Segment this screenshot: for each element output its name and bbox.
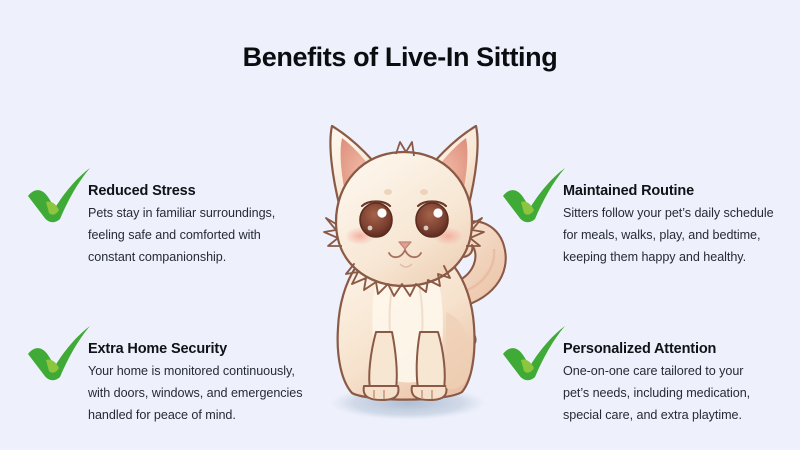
- benefit-item-extra-home-security: Extra Home Security Your home is monitor…: [22, 324, 322, 434]
- benefit-description-line: keeping them happy and healthy.: [563, 246, 799, 268]
- benefit-description-line: with doors, windows, and emergencies: [88, 382, 324, 404]
- benefit-description-line: handled for peace of mind.: [88, 404, 324, 426]
- cat-front-leg-left: [369, 332, 397, 388]
- benefit-description-line: Sitters follow your pet’s daily schedule: [563, 202, 799, 224]
- page-title: Benefits of Live-In Sitting: [0, 40, 800, 74]
- cat-eye-left: [360, 203, 392, 237]
- cat-eye-right: [416, 203, 448, 237]
- benefit-description-line: Pets stay in familiar surroundings,: [88, 202, 324, 224]
- benefit-item-personalized-attention: Personalized Attention One-on-one care t…: [497, 324, 797, 434]
- benefit-item-reduced-stress: Reduced Stress Pets stay in familiar sur…: [22, 166, 322, 276]
- cat-paw-right: [412, 386, 447, 400]
- benefit-description-line: Your home is monitored continuously,: [88, 360, 324, 382]
- benefit-heading: Personalized Attention: [563, 340, 799, 358]
- benefit-description: One-on-one care tailored to your pet’s n…: [563, 360, 799, 426]
- benefit-text: Personalized Attention One-on-one care t…: [563, 340, 799, 426]
- benefit-text: Reduced Stress Pets stay in familiar sur…: [88, 182, 324, 268]
- benefit-description-line: One-on-one care tailored to your: [563, 360, 799, 382]
- benefit-heading: Extra Home Security: [88, 340, 324, 358]
- benefit-heading: Maintained Routine: [563, 182, 799, 200]
- benefit-description-line: special care, and extra playtime.: [563, 404, 799, 426]
- benefit-description: Sitters follow your pet’s daily schedule…: [563, 202, 799, 268]
- benefit-description-line: for meals, walks, play, and bedtime,: [563, 224, 799, 246]
- cat-paw-left: [364, 386, 399, 400]
- green-check-icon: [22, 324, 94, 382]
- green-check-icon: [22, 166, 94, 224]
- benefit-description-line: pet’s needs, including medication,: [563, 382, 799, 404]
- benefit-item-maintained-routine: Maintained Routine Sitters follow your p…: [497, 166, 797, 276]
- infographic-canvas: Benefits of Live-In Sitting: [0, 0, 800, 450]
- benefit-description-line: constant companionship.: [88, 246, 324, 268]
- benefit-description: Pets stay in familiar surroundings, feel…: [88, 202, 324, 268]
- cat-illustration: [296, 96, 514, 436]
- benefit-text: Extra Home Security Your home is monitor…: [88, 340, 324, 426]
- benefit-text: Maintained Routine Sitters follow your p…: [563, 182, 799, 268]
- green-check-icon: [497, 166, 569, 224]
- benefit-description: Your home is monitored continuously, wit…: [88, 360, 324, 426]
- benefit-heading: Reduced Stress: [88, 182, 324, 200]
- cat-front-leg-right: [417, 332, 445, 388]
- green-check-icon: [497, 324, 569, 382]
- benefit-description-line: feeling safe and comforted with: [88, 224, 324, 246]
